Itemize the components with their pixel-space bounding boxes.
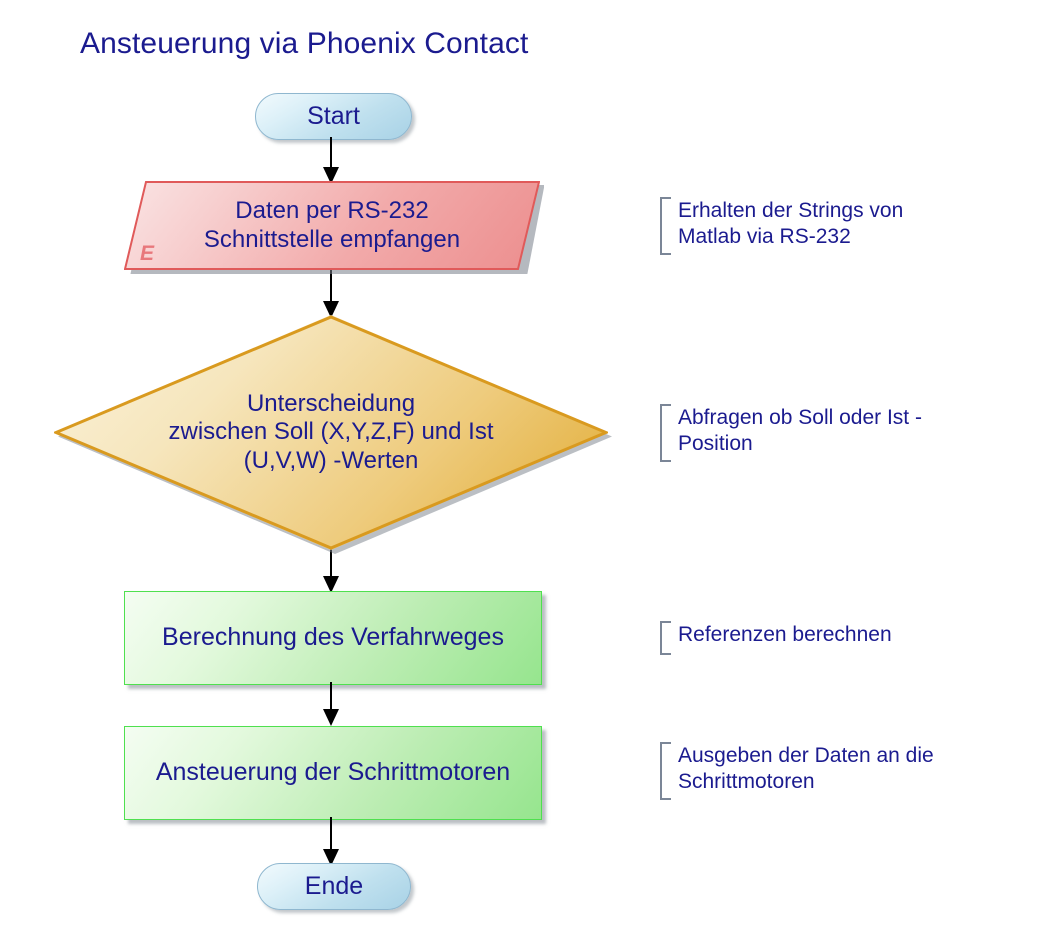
annotation-calc-text: Referenzen berechnen (678, 621, 892, 655)
connector-calc-to-drive (318, 682, 344, 727)
node-start-label: Start (307, 102, 360, 132)
annotation-decision-text: Abfragen ob Soll oder Ist - Position (678, 404, 922, 462)
annotation-receive: Erhalten der Strings von Matlab via RS-2… (660, 197, 903, 255)
node-calculate-path[interactable]: Berechnung des Verfahrweges (124, 591, 542, 685)
annotation-bracket-icon (660, 404, 671, 462)
annotation-bracket-icon (660, 197, 671, 255)
node-decision-outline (54, 315, 608, 550)
connector-start-to-receive (318, 137, 344, 185)
connector-drive-to-end (318, 817, 344, 867)
annotation-receive-text: Erhalten der Strings von Matlab via RS-2… (678, 197, 903, 255)
node-drive-steppers-label: Ansteuerung der Schrittmotoren (156, 758, 510, 788)
node-end-label: Ende (305, 872, 363, 902)
node-end[interactable]: Ende (257, 863, 411, 910)
io-marker-e: E (140, 242, 154, 266)
annotation-drive-text: Ausgeben der Daten an die Schrittmotoren (678, 742, 934, 800)
annotation-drive: Ausgeben der Daten an die Schrittmotoren (660, 742, 934, 800)
flowchart-canvas: Ansteuerung via Phoenix Contact Start Da… (0, 0, 1050, 951)
annotation-bracket-icon (660, 621, 671, 655)
node-receive-outline (124, 181, 540, 270)
node-receive-data[interactable]: Daten per RS-232 Schnittstelle empfangen… (124, 181, 540, 270)
annotation-bracket-icon (660, 742, 671, 800)
node-start[interactable]: Start (255, 93, 412, 140)
node-decision[interactable]: Unterscheidung zwischen Soll (X,Y,Z,F) u… (54, 315, 608, 550)
diagram-title: Ansteuerung via Phoenix Contact (80, 27, 528, 61)
connector-decision-to-calc (318, 549, 344, 594)
node-drive-steppers[interactable]: Ansteuerung der Schrittmotoren (124, 726, 542, 820)
annotation-decision: Abfragen ob Soll oder Ist - Position (660, 404, 922, 462)
node-calculate-path-label: Berechnung des Verfahrweges (162, 623, 504, 653)
connector-receive-to-decision (318, 269, 344, 319)
annotation-calc: Referenzen berechnen (660, 621, 892, 655)
